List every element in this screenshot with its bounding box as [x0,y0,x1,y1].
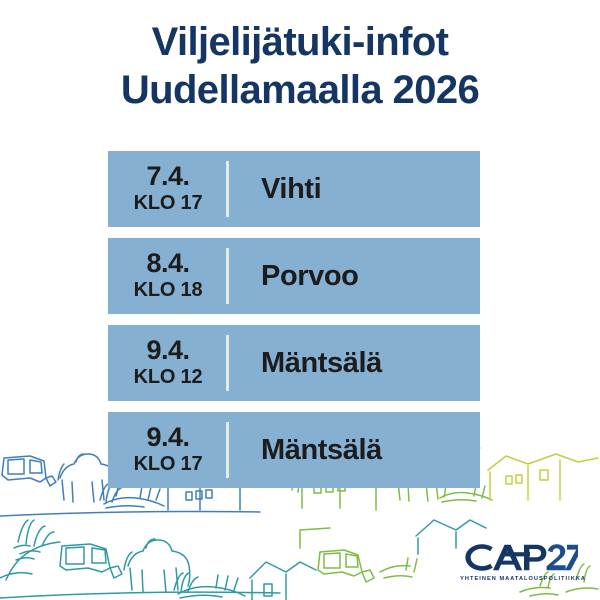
page-title: Viljelijätuki-infot Uudellamaalla 2026 [0,18,600,114]
cap27-wordmark-icon [460,540,578,574]
event-date-cell: 9.4. KLO 12 [108,337,226,389]
event-time: KLO 18 [134,279,203,302]
poster-canvas: Viljelijätuki-infot Uudellamaalla 2026 [0,0,600,600]
list-item[interactable]: 8.4. KLO 18 Porvoo [108,238,480,314]
title-line-1: Viljelijätuki-infot [0,18,600,66]
event-time: KLO 17 [134,453,203,476]
title-line-2: Uudellamaalla 2026 [0,66,600,114]
event-list: 7.4. KLO 17 Vihti 8.4. KLO 18 Porvoo 9.4… [108,151,480,488]
event-date: 7.4. [146,163,189,190]
event-date: 9.4. [146,337,189,364]
event-place: Mäntsälä [229,434,480,466]
event-date-cell: 7.4. KLO 17 [108,163,226,215]
event-place: Porvoo [229,260,480,292]
list-item[interactable]: 7.4. KLO 17 Vihti [108,151,480,227]
cap27-tagline: YHTEINEN MAATALOUSPOLITIIKKA [460,576,586,582]
event-date: 8.4. [146,250,189,277]
list-item[interactable]: 9.4. KLO 12 Mäntsälä [108,325,480,401]
event-date-cell: 9.4. KLO 17 [108,424,226,476]
event-time: KLO 12 [134,366,203,389]
event-time: KLO 17 [134,192,203,215]
cap27-logo: YHTEINEN MAATALOUSPOLITIIKKA [460,540,586,582]
event-date: 9.4. [146,424,189,451]
event-place: Vihti [229,173,480,205]
event-place: Mäntsälä [229,347,480,379]
event-date-cell: 8.4. KLO 18 [108,250,226,302]
list-item[interactable]: 9.4. KLO 17 Mäntsälä [108,412,480,488]
